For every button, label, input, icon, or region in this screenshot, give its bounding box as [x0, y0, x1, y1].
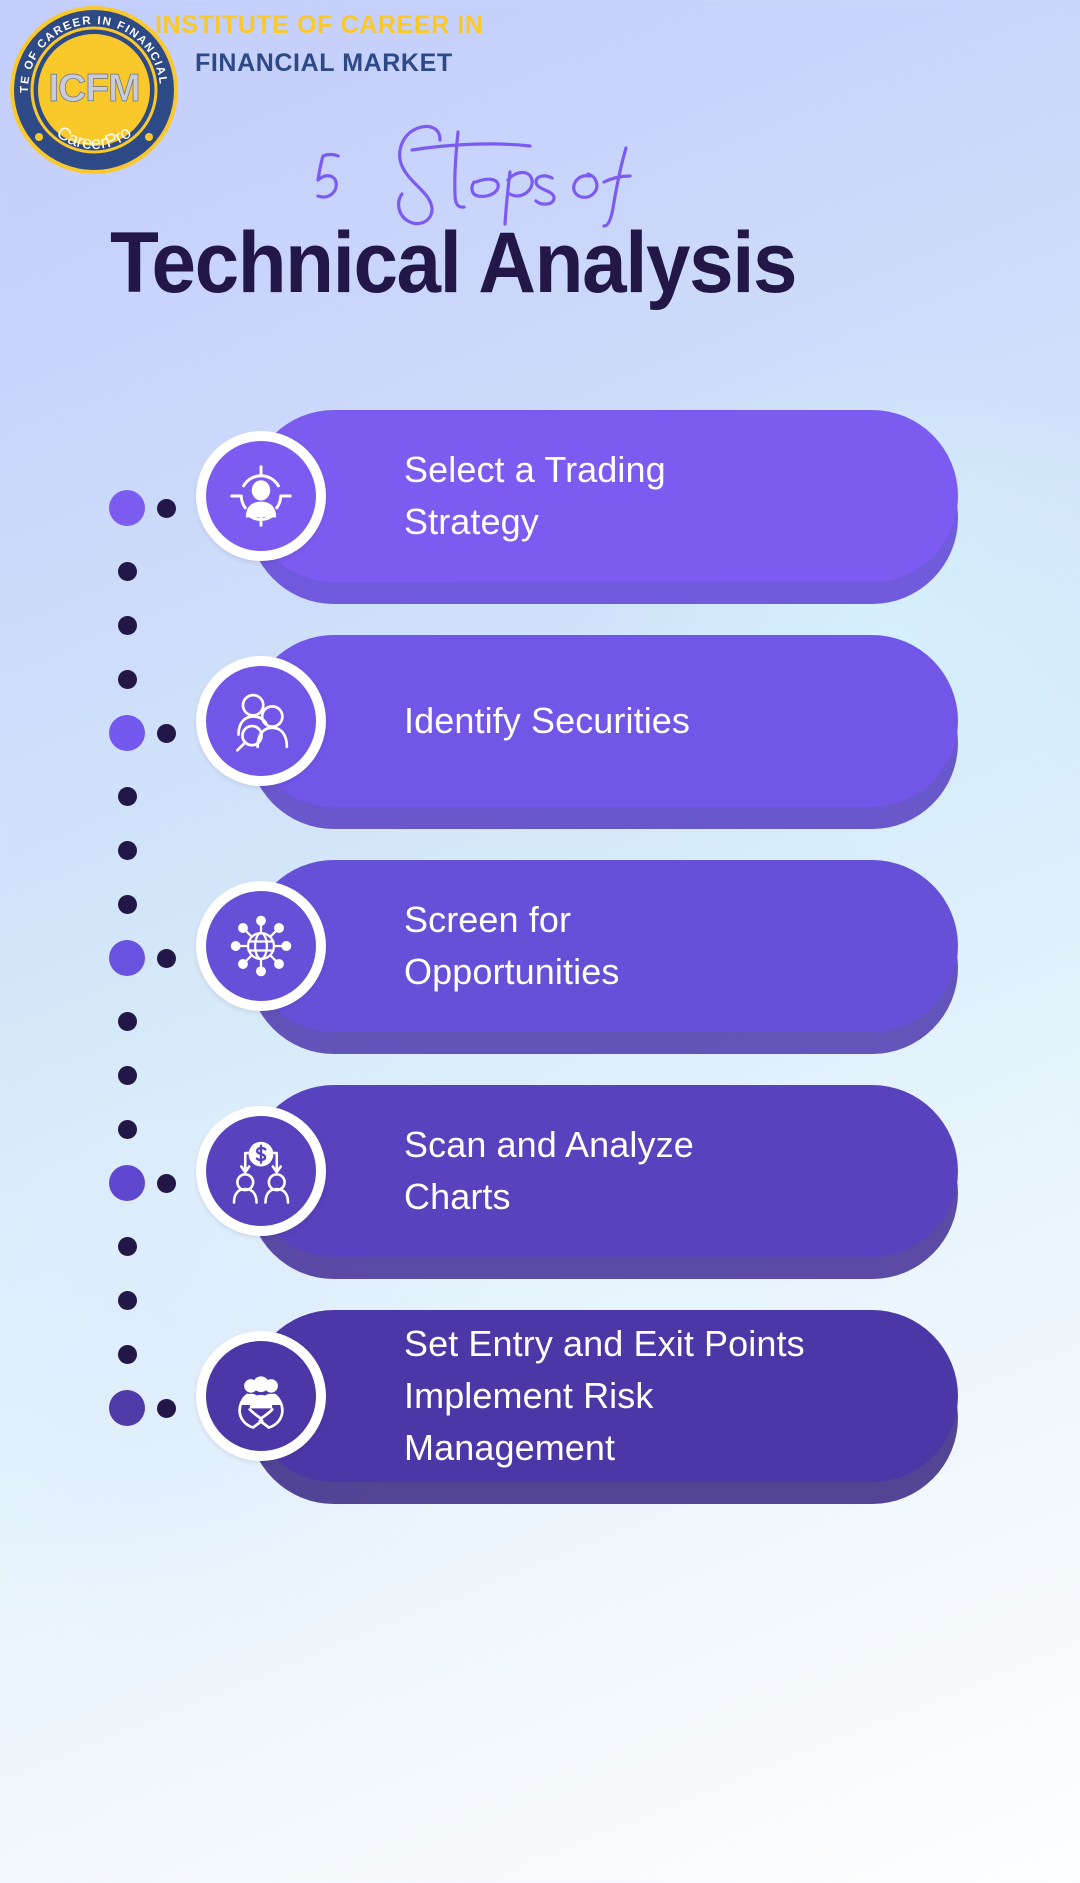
step-icon-badge-1 — [196, 431, 326, 561]
step-label-1: Select a Trading Strategy — [404, 444, 690, 548]
step-card-3[interactable]: Screen for Opportunities — [248, 860, 958, 1032]
step-card-1[interactable]: Select a Trading Strategy — [248, 410, 958, 582]
step-card-4[interactable]: Scan and Analyze Charts — [248, 1085, 958, 1257]
icon-inner-4 — [206, 1116, 316, 1226]
step-icon-badge-2 — [196, 656, 326, 786]
step-card-2[interactable]: Identify Securities — [248, 635, 958, 807]
person-target-icon — [225, 460, 297, 532]
step-card-5[interactable]: Set Entry and Exit Points Implement Risk… — [248, 1310, 958, 1482]
step-label-3: Screen for Opportunities — [404, 894, 643, 998]
people-search-icon — [225, 685, 297, 757]
hands-people-icon — [225, 1360, 297, 1432]
step-icon-badge-4 — [196, 1106, 326, 1236]
step-label-5: Set Entry and Exit Points Implement Risk… — [404, 1318, 829, 1474]
icon-inner-1 — [206, 441, 316, 551]
globe-network-icon — [225, 910, 297, 982]
steps-list: Select a Trading Strategy — [0, 0, 1080, 1883]
icon-inner-5 — [206, 1341, 316, 1451]
dollar-distribution-icon — [225, 1135, 297, 1207]
step-icon-badge-5 — [196, 1331, 326, 1461]
icon-inner-3 — [206, 891, 316, 1001]
step-label-2: Identify Securities — [404, 695, 714, 747]
icon-inner-2 — [206, 666, 316, 776]
step-label-4: Scan and Analyze Charts — [404, 1119, 718, 1223]
step-icon-badge-3 — [196, 881, 326, 1011]
